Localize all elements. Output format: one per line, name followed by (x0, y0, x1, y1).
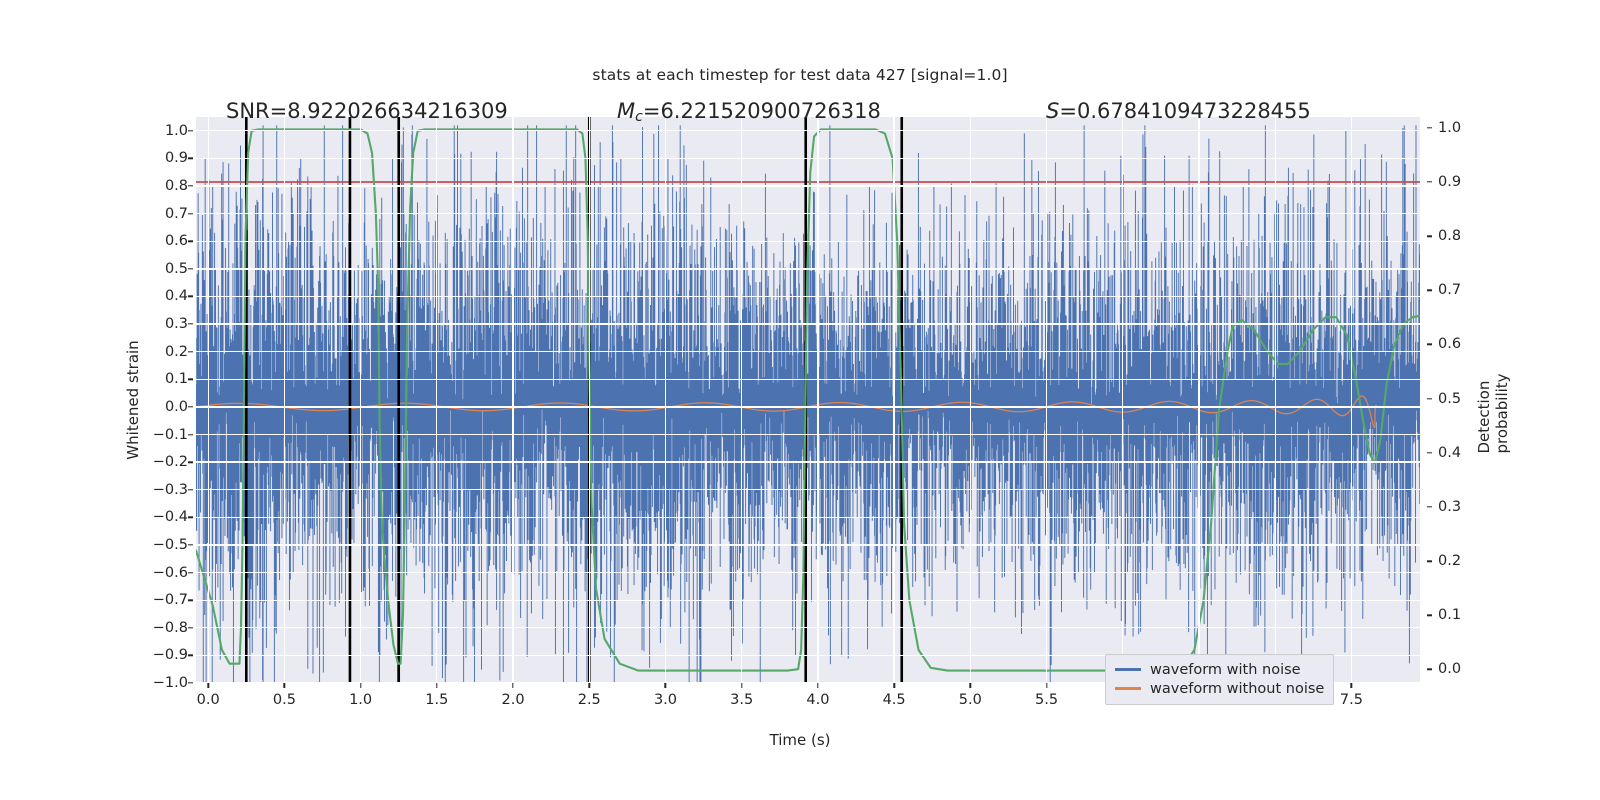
gridline-vertical (970, 117, 971, 683)
legend-color-swatch (1115, 687, 1141, 689)
y-axis-right-tick-label: 0.6 (1438, 336, 1461, 352)
x-axis-tick-label: 2.0 (502, 692, 525, 708)
gridline-vertical (893, 117, 894, 683)
y-axis-right-tick-label: 0.1 (1438, 607, 1461, 623)
gridline-vertical (1046, 117, 1047, 683)
x-axis-tick-mark (1351, 683, 1352, 688)
x-axis-tick-label: 1.0 (349, 692, 372, 708)
y-axis-left-tick-label: −0.2 (153, 454, 188, 470)
plot-area[interactable] (196, 117, 1420, 683)
y-axis-left-tick-label: −0.1 (153, 427, 188, 443)
y-axis-right-tick-label: 0.2 (1438, 553, 1461, 569)
annotation-score: S=0.6784109473228455 (1046, 99, 1311, 123)
gridline-vertical (284, 117, 285, 683)
y-axis-left-tick-mark (188, 158, 193, 159)
y-axis-left-tick-label: 0.2 (165, 344, 188, 360)
y-axis-left-label: Whitened strain (124, 340, 142, 459)
data-layer (196, 117, 1420, 683)
x-axis-tick-label: 1.5 (425, 692, 448, 708)
y-axis-left-tick-mark (188, 241, 193, 242)
annotation-mc-equals: = (643, 99, 661, 123)
gridline-horizontal (196, 158, 1420, 159)
y-axis-left-tick-label: −0.5 (153, 537, 188, 553)
gridline-vertical (589, 117, 590, 683)
gridline-horizontal (196, 351, 1420, 352)
gridline-vertical (360, 117, 361, 683)
x-axis-tick-mark (512, 683, 513, 688)
gridline-horizontal (196, 489, 1420, 490)
y-axis-left-tick-mark (188, 130, 193, 131)
y-axis-left-tick-mark (188, 406, 193, 407)
page-title: stats at each timestep for test data 427… (0, 66, 1600, 84)
x-axis-tick-mark (589, 683, 590, 688)
annotation-chirp-mass: Mc=6.221520900726318 (617, 99, 881, 125)
y-axis-left-tick-mark (188, 655, 193, 656)
y-axis-right-tick-mark (1427, 235, 1432, 236)
y-axis-right-tick-mark (1427, 344, 1432, 345)
y-axis-left-tick-label: −0.8 (153, 620, 188, 636)
y-axis-left-tick-label: 0.4 (165, 288, 188, 304)
y-axis-left-tick-mark (188, 323, 193, 324)
x-axis-tick-label: 5.0 (959, 692, 982, 708)
y-axis-left-tick-mark (188, 627, 193, 628)
x-axis-tick-mark (207, 683, 208, 688)
y-axis-left-tick-label: 0.1 (165, 371, 188, 387)
x-axis-tick-mark (893, 683, 894, 688)
x-axis-tick-mark (360, 683, 361, 688)
y-axis-left-tick-mark (188, 517, 193, 518)
y-axis-right-tick-mark (1427, 290, 1432, 291)
y-axis-left-tick-mark (188, 213, 193, 214)
y-axis-left-tick-mark (188, 268, 193, 269)
x-axis-tick-label: 0.5 (273, 692, 296, 708)
y-axis-right-tick-label: 0.9 (1438, 174, 1461, 190)
y-axis-left-tick-mark (188, 682, 193, 683)
y-axis-right-tick-label: 0.3 (1438, 499, 1461, 515)
x-axis-tick-label: 3.0 (654, 692, 677, 708)
x-axis-tick-label: 4.0 (806, 692, 829, 708)
y-axis-right-tick-mark (1427, 127, 1432, 128)
y-axis-right-label: Detection probability (1475, 347, 1511, 454)
y-axis-left-tick-label: 0.5 (165, 261, 188, 277)
y-axis-left-tick-label: 0.0 (165, 399, 188, 415)
y-axis-left-tick-mark (188, 461, 193, 462)
gridline-horizontal (196, 600, 1420, 601)
y-axis-left-tick-label: 0.8 (165, 178, 188, 194)
gridline-vertical (741, 117, 742, 683)
y-axis-right-tick-mark (1427, 669, 1432, 670)
legend-item-label: waveform without noise (1150, 681, 1324, 697)
y-axis-right-tick-label: 0.8 (1438, 228, 1461, 244)
y-axis-left-tick-label: 0.6 (165, 233, 188, 249)
y-axis-right-tick-label: 0.4 (1438, 445, 1461, 461)
x-axis-tick-label: 0.0 (197, 692, 220, 708)
y-axis-right-tick-mark (1427, 398, 1432, 399)
y-axis-left-tick-label: −0.9 (153, 647, 188, 663)
x-axis-tick-mark (284, 683, 285, 688)
gridline-horizontal (196, 406, 1420, 407)
y-axis-left-tick-mark (188, 489, 193, 490)
gridline-horizontal (196, 544, 1420, 545)
legend-color-swatch (1115, 668, 1141, 670)
annotation-s-value: 0.6784109473228455 (1077, 99, 1311, 123)
legend[interactable]: waveform with noisewaveform without nois… (1105, 654, 1334, 705)
y-axis-right-tick-label: 0.7 (1438, 282, 1461, 298)
y-axis-left-tick-mark (188, 351, 193, 352)
legend-item[interactable]: waveform with noise (1115, 660, 1324, 679)
x-axis-tick-mark (970, 683, 971, 688)
y-axis-left-tick-label: −1.0 (153, 675, 188, 691)
x-axis-tick-mark (817, 683, 818, 688)
y-axis-right-tick-label: 1.0 (1438, 120, 1461, 136)
x-axis-tick-label: 2.5 (578, 692, 601, 708)
y-axis-left-tick-label: 0.3 (165, 316, 188, 332)
y-axis-right-tick-label: 0.5 (1438, 391, 1461, 407)
x-axis-tick-label: 3.5 (730, 692, 753, 708)
gridline-vertical (512, 117, 513, 683)
y-axis-left-tick-label: −0.7 (153, 592, 188, 608)
gridline-vertical (208, 117, 209, 683)
legend-item-label: waveform with noise (1150, 662, 1301, 678)
legend-item[interactable]: waveform without noise (1115, 679, 1324, 698)
y-axis-left-tick-mark (188, 185, 193, 186)
y-axis-left-tick-label: 0.7 (165, 206, 188, 222)
gridline-horizontal (196, 130, 1420, 131)
y-axis-right-tick-mark (1427, 181, 1432, 182)
y-axis-left-tick-mark (188, 599, 193, 600)
annotation-mc-subscript: c (635, 109, 643, 125)
annotation-mc-value: 6.221520900726318 (660, 99, 880, 123)
x-axis-tick-label: 5.5 (1035, 692, 1058, 708)
gridline-vertical (1198, 117, 1199, 683)
y-axis-right-tick-mark (1427, 560, 1432, 561)
gridline-horizontal (196, 323, 1420, 324)
gridline-horizontal (196, 241, 1420, 242)
gridline-horizontal (196, 434, 1420, 435)
gridline-vertical (817, 117, 818, 683)
gridline-horizontal (196, 185, 1420, 186)
y-axis-right-tick-mark (1427, 452, 1432, 453)
y-axis-left-tick-mark (188, 379, 193, 380)
y-axis-left-tick-label: 1.0 (165, 123, 188, 139)
gridline-vertical (1351, 117, 1352, 683)
figure-canvas: stats at each timestep for test data 427… (0, 0, 1600, 800)
gridline-horizontal (196, 627, 1420, 628)
annotation-snr-value: 8.922026634216309 (287, 99, 507, 123)
gridline-horizontal (196, 517, 1420, 518)
x-axis-tick-mark (741, 683, 742, 688)
y-axis-left-tick-mark (188, 544, 193, 545)
gridline-horizontal (196, 296, 1420, 297)
annotation-snr: SNR=8.922026634216309 (226, 99, 508, 123)
y-axis-right-tick-mark (1427, 615, 1432, 616)
y-axis-right-tick-label: 0.0 (1438, 661, 1461, 677)
y-axis-left-tick-label: −0.3 (153, 482, 188, 498)
y-axis-left-tick-mark (188, 434, 193, 435)
gridline-vertical (665, 117, 666, 683)
y-axis-left-tick-mark (188, 572, 193, 573)
gridline-horizontal (196, 572, 1420, 573)
x-axis-tick-label: 7.5 (1340, 692, 1363, 708)
gridline-horizontal (196, 268, 1420, 269)
gridline-horizontal (196, 461, 1420, 462)
annotation-s-symbol: S (1046, 99, 1059, 123)
gridline-vertical (1275, 117, 1276, 683)
y-axis-left-tick-label: −0.4 (153, 509, 188, 525)
gridline-horizontal (196, 379, 1420, 380)
x-axis-tick-mark (665, 683, 666, 688)
annotation-s-equals: = (1059, 99, 1077, 123)
x-axis-label: Time (s) (0, 731, 1600, 749)
y-axis-right-tick-mark (1427, 506, 1432, 507)
gridline-horizontal (196, 213, 1420, 214)
gridline-vertical (436, 117, 437, 683)
x-axis-tick-mark (436, 683, 437, 688)
annotation-snr-label: SNR= (226, 99, 287, 123)
gridline-vertical (1122, 117, 1123, 683)
y-axis-left-tick-label: 0.9 (165, 150, 188, 166)
x-axis-tick-mark (1046, 683, 1047, 688)
annotation-mc-symbol: M (617, 99, 635, 123)
x-axis-tick-label: 4.5 (883, 692, 906, 708)
y-axis-left-tick-label: −0.6 (153, 565, 188, 581)
y-axis-left-tick-mark (188, 296, 193, 297)
